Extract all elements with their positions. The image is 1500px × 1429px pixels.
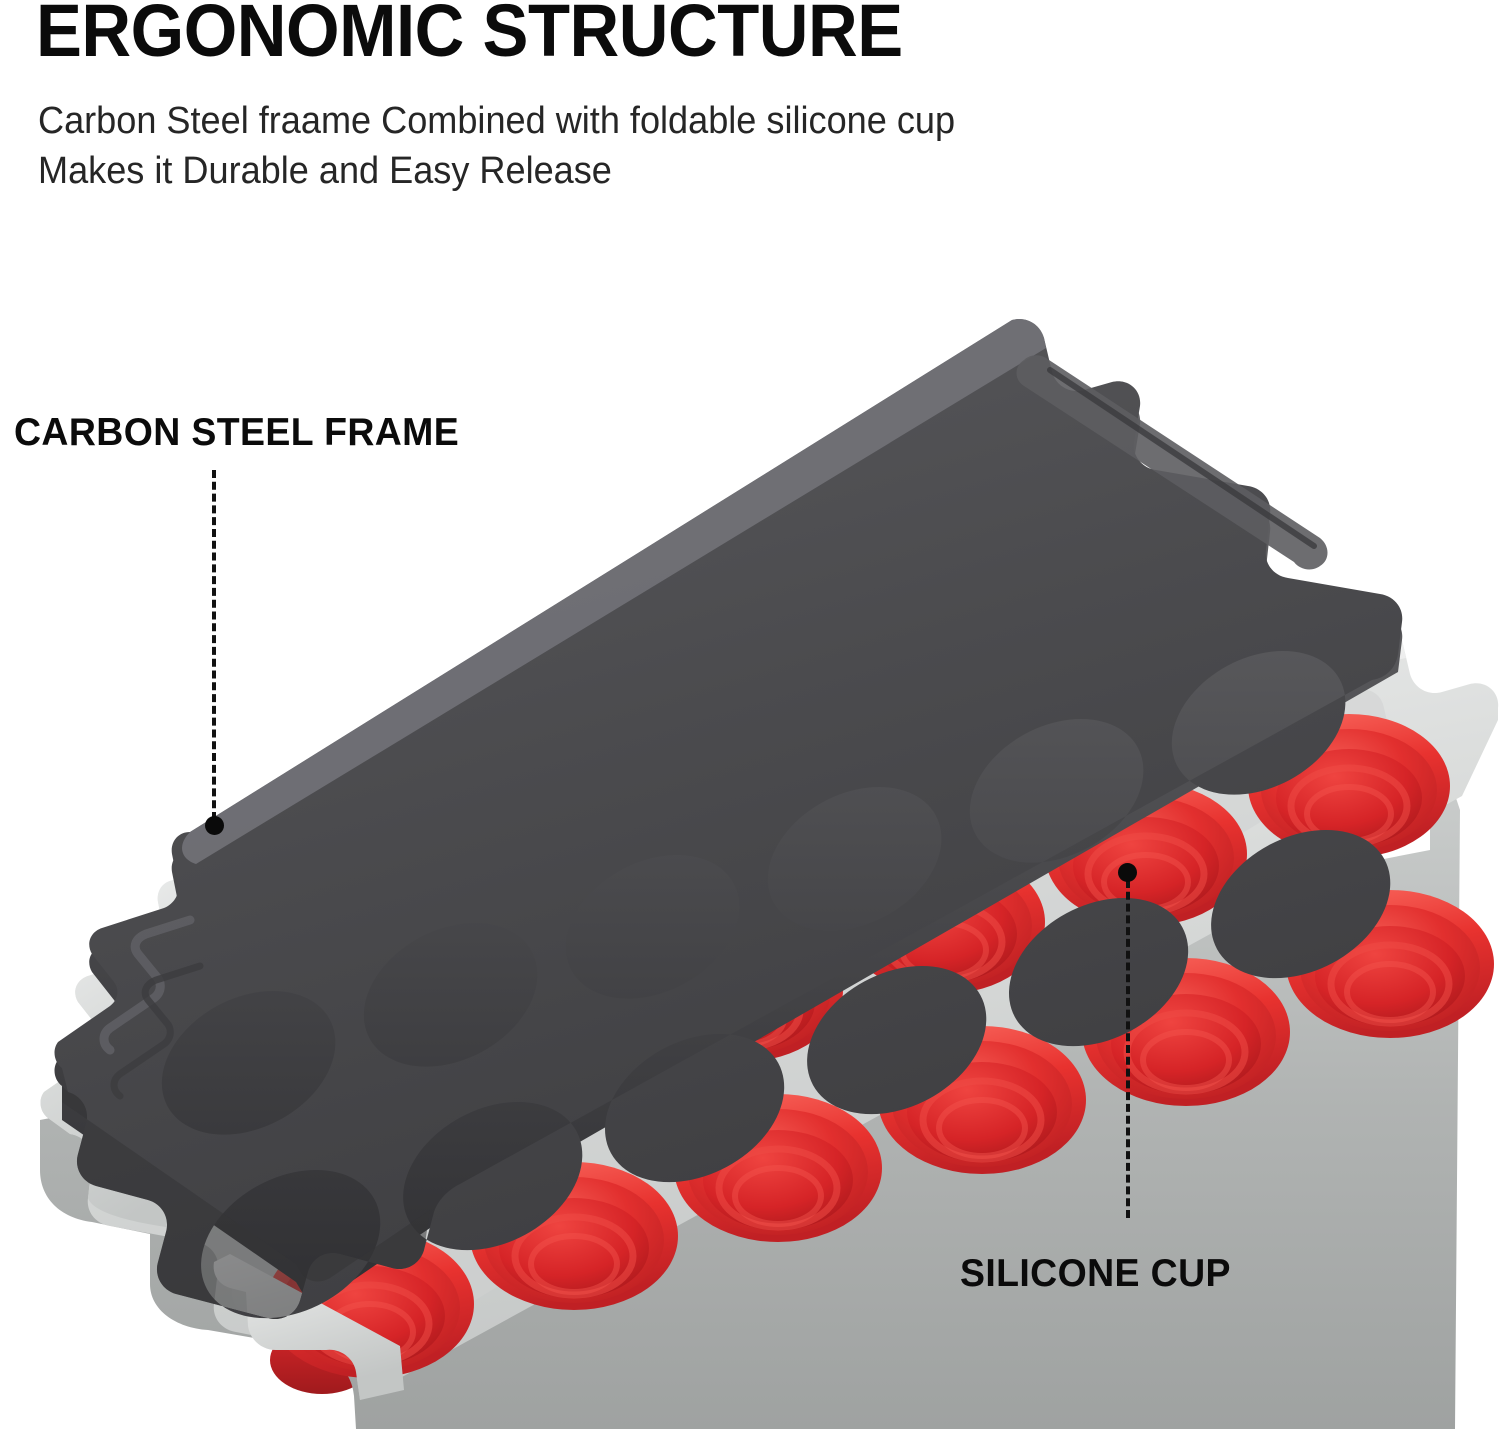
leader-dot-carbon-steel-frame [205,816,224,835]
callout-label-silicone-cup: SILICONE CUP [960,1252,1231,1296]
infographic-page: ERGONOMIC STRUCTURE Carbon Steel fraame … [0,0,1500,1429]
leader-line-silicone-cup [1126,880,1130,1218]
subtitle-line-2: Makes it Durable and Easy Release [38,146,1226,196]
callout-label-carbon-steel-frame: CARBON STEEL FRAME [14,411,459,455]
page-title: ERGONOMIC STRUCTURE [36,0,903,68]
leader-dot-silicone-cup [1118,863,1137,882]
subtitle-line-1: Carbon Steel fraame Combined with foldab… [38,96,1226,146]
leader-line-carbon-steel-frame [212,470,216,820]
page-subtitle: Carbon Steel fraame Combined with foldab… [38,96,1226,196]
